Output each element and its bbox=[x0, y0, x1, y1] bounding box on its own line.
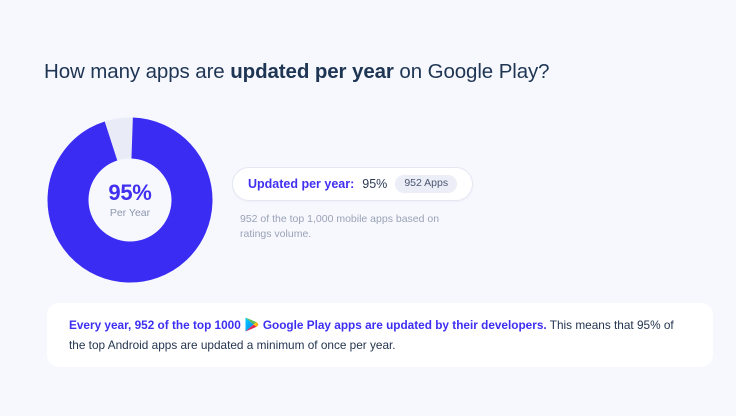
summary-callout: Every year, 952 of the top 1000Google Pl… bbox=[47, 303, 713, 367]
chart-caption: 952 of the top 1,000 mobile apps based o… bbox=[240, 212, 455, 242]
summary-callout-text: Every year, 952 of the top 1000Google Pl… bbox=[69, 315, 693, 356]
tooltip-value: 95% bbox=[362, 177, 387, 191]
callout-highlight-before: Every year, 952 of the top 1000 bbox=[69, 318, 241, 332]
google-play-icon bbox=[245, 317, 259, 332]
tooltip-apps-badge: 952 Apps bbox=[395, 175, 457, 193]
infographic-canvas: How many apps are updated per year on Go… bbox=[0, 0, 736, 416]
page-title-emphasis: updated per year bbox=[230, 60, 394, 83]
chart-tooltip[interactable]: Updated per year: 95% 952 Apps bbox=[232, 167, 473, 201]
donut-chart-svg bbox=[47, 117, 213, 283]
callout-highlight-after: Google Play apps are updated by their de… bbox=[263, 318, 547, 332]
page-title-part2: on Google Play? bbox=[394, 60, 550, 83]
tooltip-label: Updated per year: bbox=[248, 177, 354, 191]
page-title: How many apps are updated per year on Go… bbox=[44, 60, 550, 84]
page-title-part1: How many apps are bbox=[44, 60, 230, 83]
donut-chart: 95% Per Year bbox=[47, 117, 213, 283]
